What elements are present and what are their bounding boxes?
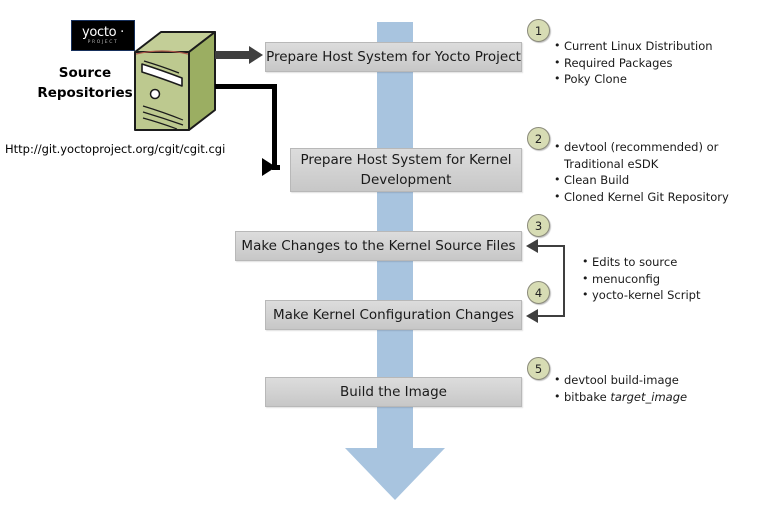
step-box-label: Make Changes to the Kernel Source Files — [241, 236, 515, 256]
step-badge-1: 1 — [527, 19, 550, 42]
annotation-item: Clean Build — [564, 172, 729, 189]
annotation-bitbake-prefix: bitbake — [564, 390, 610, 404]
source-repositories-label: Source Repositories — [30, 63, 140, 103]
connector-arrowhead-step1 — [249, 46, 263, 64]
step-box-make-kernel-config-changes[interactable]: Make Kernel Configuration Changes — [265, 300, 522, 330]
step-box-prepare-host-yocto[interactable]: Prepare Host System for Yocto Project — [265, 42, 522, 72]
source-label-line1: Source — [30, 63, 140, 83]
annotation-item: Poky Clone — [564, 71, 713, 88]
connector-arrowhead-step2 — [262, 158, 276, 176]
yocto-project-logo: yocto · PROJECT — [71, 20, 135, 51]
step-box-label: Prepare Host System for Yocto Project — [266, 47, 521, 67]
bracket-arrowhead-step4 — [526, 309, 538, 323]
step-badge-2: 2 — [527, 127, 550, 150]
connector-server-to-step2-h1 — [215, 84, 277, 89]
step-badge-5: 5 — [527, 357, 550, 380]
diagram-canvas: yocto · PROJECT Source Repositories Http… — [0, 0, 769, 517]
yocto-logo-wordmark: yocto · — [82, 26, 124, 39]
connector-server-to-step1 — [215, 51, 251, 59]
step-box-label-line2: Development — [361, 172, 452, 188]
step-badge-4: 4 — [527, 281, 550, 304]
step-badge-number: 3 — [535, 219, 542, 233]
bracket-arrowhead-step3 — [526, 239, 538, 253]
annotation-list-step1: Current Linux Distribution Required Pack… — [552, 38, 713, 88]
step-badge-number: 5 — [535, 362, 542, 376]
bracket-vertical-steps34 — [563, 245, 565, 317]
step-box-label: Prepare Host System for Kernel Developme… — [300, 150, 511, 190]
annotation-bitbake-target: target_image — [610, 390, 687, 404]
step-box-label: Make Kernel Configuration Changes — [273, 305, 514, 325]
connector-server-to-step2-v — [272, 84, 277, 169]
annotation-item: Cloned Kernel Git Repository — [564, 189, 729, 206]
main-flow-arrow-head — [345, 448, 445, 500]
annotation-list-step5: devtool build-image bitbake target_image — [552, 372, 687, 405]
step-box-make-kernel-source-changes[interactable]: Make Changes to the Kernel Source Files — [235, 231, 522, 261]
step-badge-number: 4 — [535, 286, 542, 300]
annotation-item: menuconfig — [592, 271, 701, 288]
annotation-item: Edits to source — [592, 254, 701, 271]
step-box-prepare-host-kernel[interactable]: Prepare Host System for Kernel Developme… — [290, 148, 522, 192]
source-repository-url: Http://git.yoctoproject.org/cgit/cgit.cg… — [5, 142, 225, 156]
annotation-list-step2: devtool (recommended) or Traditional eSD… — [552, 139, 729, 205]
yocto-logo-subtext: PROJECT — [88, 41, 119, 46]
annotation-item: devtool (recommended) or — [564, 139, 729, 156]
step-badge-3: 3 — [527, 214, 550, 237]
step-box-label-line1: Prepare Host System for Kernel — [300, 152, 511, 168]
annotation-item: yocto-kernel Script — [592, 287, 701, 304]
server-tower-icon — [131, 30, 217, 134]
bracket-horizontal-step4 — [538, 315, 565, 317]
step-box-label: Build the Image — [340, 382, 447, 402]
step-badge-number: 2 — [535, 132, 542, 146]
annotation-item: Required Packages — [564, 55, 713, 72]
annotation-item: devtool build-image — [564, 372, 687, 389]
annotation-item: Current Linux Distribution — [564, 38, 713, 55]
bracket-horizontal-step3 — [538, 245, 565, 247]
annotation-item-continuation: Traditional eSDK — [564, 156, 729, 173]
source-label-line2: Repositories — [30, 83, 140, 103]
step-badge-number: 1 — [535, 24, 542, 38]
step-box-build-the-image[interactable]: Build the Image — [265, 377, 522, 407]
annotation-list-steps34: Edits to source menuconfig yocto-kernel … — [580, 254, 701, 304]
annotation-item-bitbake: bitbake target_image — [564, 389, 687, 406]
